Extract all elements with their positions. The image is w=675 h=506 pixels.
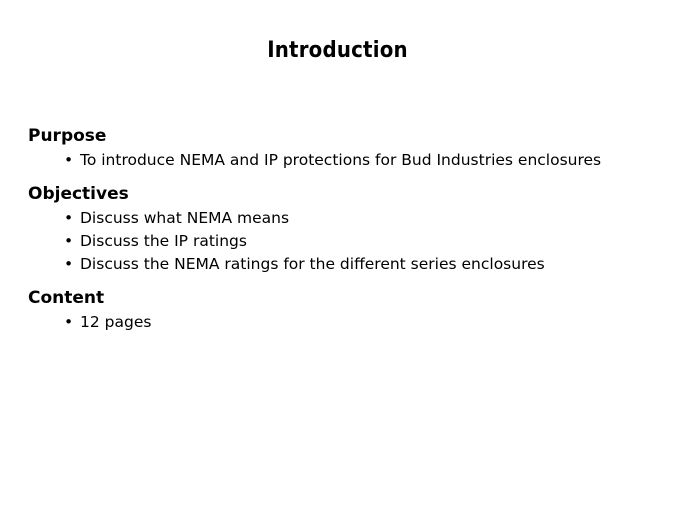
section-purpose: Purpose • To introduce NEMA and IP prote… [28, 125, 660, 171]
list-item: • 12 pages [28, 312, 660, 333]
bullet-text: Discuss what NEMA means [80, 208, 660, 229]
bullet-text: To introduce NEMA and IP protections for… [80, 150, 660, 171]
bullet-list-purpose: • To introduce NEMA and IP protections f… [28, 150, 660, 171]
section-content: Content • 12 pages [28, 287, 660, 333]
bullet-text: Discuss the IP ratings [80, 231, 660, 252]
list-item: • Discuss the IP ratings [28, 231, 660, 252]
bullet-list-objectives: • Discuss what NEMA means • Discuss the … [28, 208, 660, 275]
slide: Introduction Purpose • To introduce NEMA… [0, 0, 675, 506]
bullet-dot-icon: • [64, 254, 73, 275]
section-heading-purpose: Purpose [28, 125, 660, 147]
bullet-dot-icon: • [64, 312, 73, 333]
list-item: • Discuss what NEMA means [28, 208, 660, 229]
section-heading-content: Content [28, 287, 660, 309]
bullet-dot-icon: • [64, 231, 73, 252]
bullet-text: 12 pages [80, 312, 660, 333]
slide-body: Purpose • To introduce NEMA and IP prote… [28, 125, 660, 333]
section-objectives: Objectives • Discuss what NEMA means • D… [28, 183, 660, 275]
list-item: • Discuss the NEMA ratings for the diffe… [28, 254, 660, 275]
section-heading-objectives: Objectives [28, 183, 660, 205]
bullet-dot-icon: • [64, 150, 73, 171]
list-item: • To introduce NEMA and IP protections f… [28, 150, 660, 171]
bullet-dot-icon: • [64, 208, 73, 229]
bullet-list-content: • 12 pages [28, 312, 660, 333]
bullet-text: Discuss the NEMA ratings for the differe… [80, 254, 660, 275]
page-title: Introduction [0, 38, 675, 64]
